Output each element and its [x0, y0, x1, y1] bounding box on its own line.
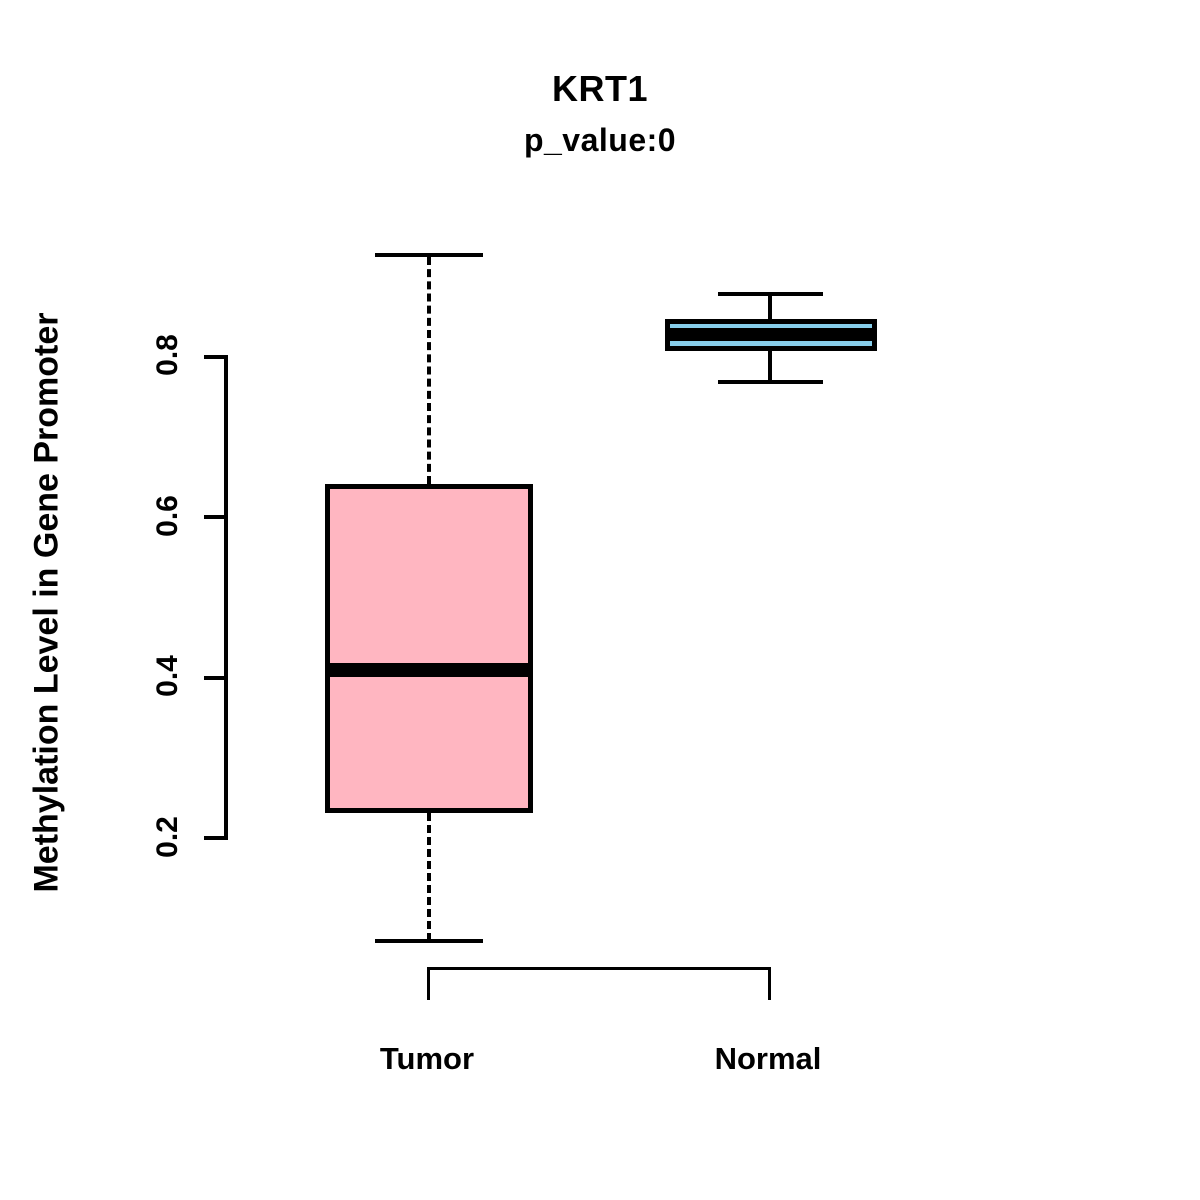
y-axis-tick-0.4 [204, 676, 228, 680]
chart-subtitle-pvalue: p_value:0 [0, 122, 1200, 159]
y-axis-tick-label-0.4: 0.4 [151, 641, 185, 711]
y-axis-tick-label-0.2: 0.2 [151, 802, 185, 872]
x-axis-tick-tumor [427, 967, 430, 1000]
tumor-lower-whisker-cap [375, 939, 483, 943]
normal-median-line [665, 328, 877, 341]
x-axis-line [427, 967, 771, 970]
tumor-lower-whisker-stem [427, 813, 431, 941]
chart-title: KRT1 [0, 68, 1200, 110]
y-axis-tick-label-0.6: 0.6 [151, 481, 185, 551]
y-axis-tick-0.6 [204, 515, 228, 519]
tumor-box [325, 484, 533, 813]
x-axis-tick-label-tumor: Tumor [327, 1041, 527, 1077]
normal-upper-whisker-stem [768, 294, 772, 320]
y-axis-tick-0.8 [204, 355, 228, 359]
boxplot-figure: KRT1 p_value:0 Methylation Level in Gene… [0, 0, 1200, 1200]
y-axis-tick-0.2 [204, 836, 228, 840]
x-axis-tick-label-normal: Normal [668, 1041, 868, 1077]
y-axis-title: Methylation Level in Gene Promoter [28, 188, 67, 1018]
y-axis-tick-label-0.8: 0.8 [151, 320, 185, 390]
normal-lower-whisker-stem [768, 351, 772, 382]
tumor-median-line [325, 663, 533, 677]
normal-lower-whisker-cap [718, 380, 823, 384]
y-axis-line [224, 357, 228, 840]
tumor-upper-whisker-stem [427, 257, 431, 484]
x-axis-tick-normal [768, 967, 771, 1000]
